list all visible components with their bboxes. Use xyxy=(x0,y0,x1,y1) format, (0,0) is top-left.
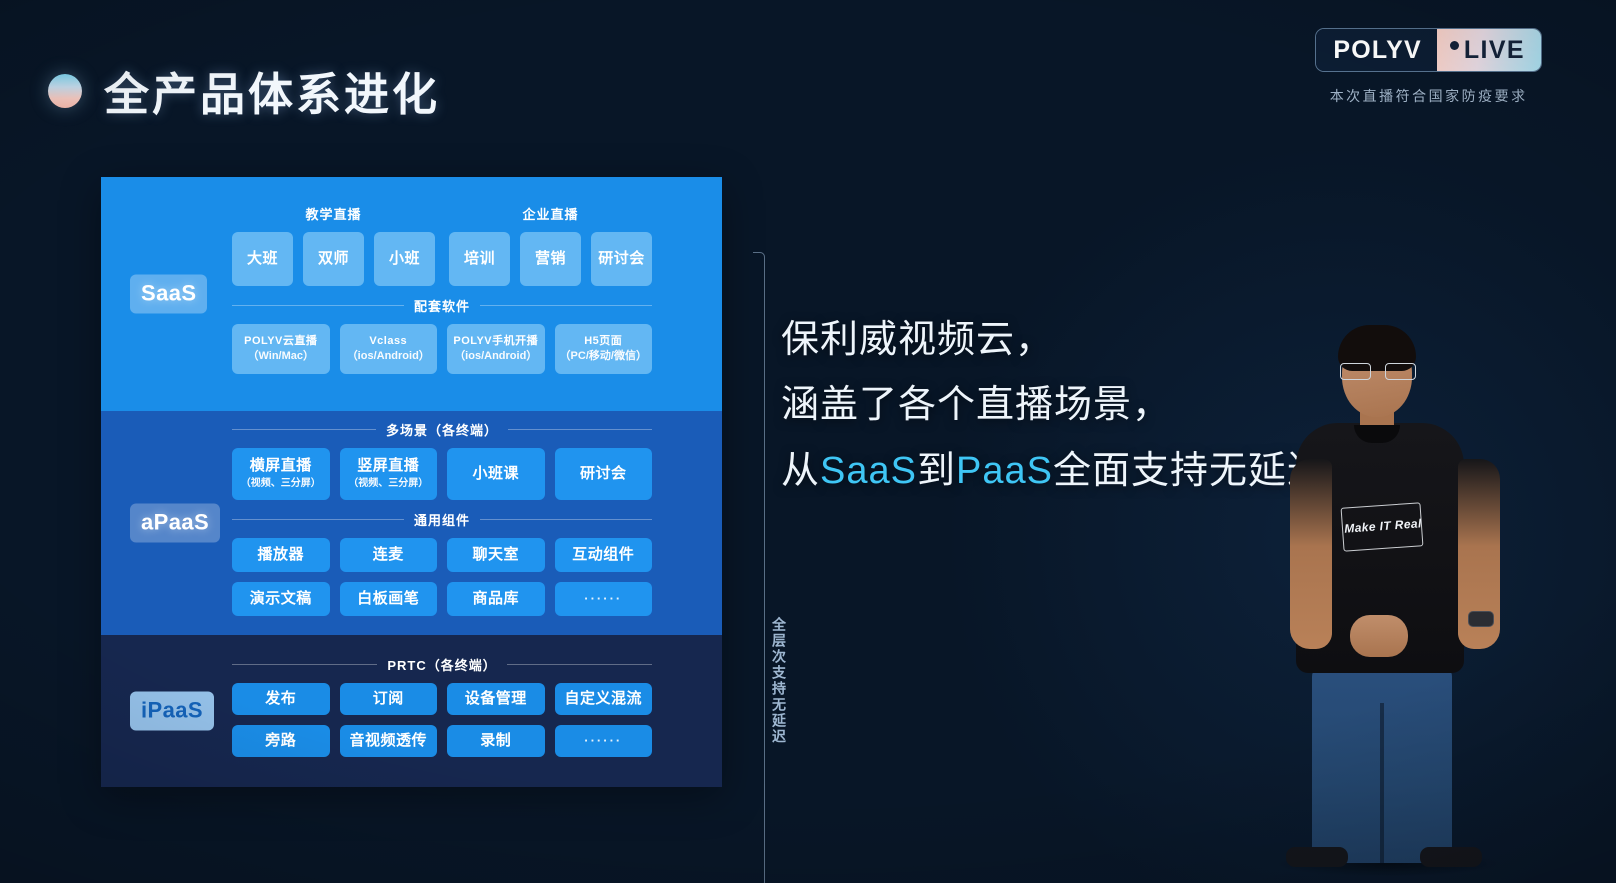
presenter-hands xyxy=(1350,615,1408,657)
tile-label: 订阅 xyxy=(373,690,404,709)
copy-highlight-paas: PaaS xyxy=(956,450,1053,492)
tile-label: 商品库 xyxy=(472,590,519,609)
tile-apaas-product-library[interactable]: 商品库 xyxy=(447,582,545,616)
tile-label: 横屏直播 xyxy=(250,457,312,476)
tile-label: ······ xyxy=(584,733,622,749)
presenter-leg-split xyxy=(1380,703,1384,863)
tile-saas-xiaoban[interactable]: 小班 xyxy=(374,232,435,286)
logo-product-part: LIVE xyxy=(1437,29,1541,71)
brand-logo: POLYV LIVE 本次直播符合国家防疫要求 xyxy=(1315,28,1542,106)
layer-tag-apaas: aPaaS xyxy=(130,504,220,543)
presenter-watch xyxy=(1468,611,1494,627)
tile-label: Vclass xyxy=(369,335,407,349)
layer-body-ipaas: PRTC（各终端） 发布 订阅 设备管理 自定义混流 xyxy=(232,655,652,767)
saas-scenario-row: 大班 双师 小班 培训 营销 xyxy=(232,232,652,286)
tile-sublabel: （PC/移动/微信） xyxy=(560,350,647,364)
rule-left xyxy=(232,664,377,665)
slide-title-row: 全产品体系进化 xyxy=(48,58,440,123)
ipaas-prtc-head: PRTC（各终端） xyxy=(232,655,652,674)
tile-label: 小班课 xyxy=(472,465,519,484)
tile-label: 双师 xyxy=(318,250,349,269)
tile-sublabel: （视频、三分屏） xyxy=(348,478,428,491)
presenter-shoe-left xyxy=(1286,847,1348,867)
rule-left xyxy=(232,519,404,520)
diagram-layer-apaas: aPaaS 多场景（各终端） 横屏直播 （视频、三分屏） 竖屏直播 （视频、三分… xyxy=(101,411,722,635)
tile-label: 营销 xyxy=(535,250,566,269)
copy-line-3-mid: 到 xyxy=(917,450,956,492)
tile-ipaas-subscribe[interactable]: 订阅 xyxy=(340,683,438,715)
tile-label: 连麦 xyxy=(373,546,404,565)
logo-caption: 本次直播符合国家防疫要求 xyxy=(1330,86,1528,106)
latency-bracket xyxy=(753,252,765,883)
latency-bracket-label: 全层次支持无延迟 xyxy=(769,617,789,745)
tile-label: POLYV手机开播 xyxy=(453,335,538,349)
tile-label: 研讨会 xyxy=(580,465,627,484)
tile-apaas-portrait-live[interactable]: 竖屏直播 （视频、三分屏） xyxy=(340,448,438,500)
layer-body-apaas: 多场景（各终端） 横屏直播 （视频、三分屏） 竖屏直播 （视频、三分屏） 小班课 xyxy=(232,420,652,626)
apaas-component-row-2: 演示文稿 白板画笔 商品库 ······ xyxy=(232,582,652,616)
tile-saas-yantaohui[interactable]: 研讨会 xyxy=(591,232,652,286)
tile-apaas-whiteboard[interactable]: 白板画笔 xyxy=(340,582,438,616)
logo-product-text: LIVE xyxy=(1464,36,1525,65)
copy-line-3-prefix: 从 xyxy=(781,450,820,492)
tile-ipaas-device-management[interactable]: 设备管理 xyxy=(447,683,545,715)
logo-box: POLYV LIVE xyxy=(1315,28,1542,72)
tile-sublabel: （Win/Mac） xyxy=(247,350,314,364)
rule-left xyxy=(232,429,376,430)
tile-ipaas-publish[interactable]: 发布 xyxy=(232,683,330,715)
saas-group-heads: 教学直播 企业直播 xyxy=(232,204,652,223)
apaas-scene-head: 多场景（各终端） xyxy=(232,420,652,439)
layer-body-saas: 教学直播 企业直播 大班 双师 小班 xyxy=(232,204,652,384)
layer-tag-saas: SaaS xyxy=(130,275,207,314)
product-architecture-diagram: SaaS 教学直播 企业直播 大班 双师 小班 xyxy=(101,177,722,787)
presenter-glasses-icon xyxy=(1340,363,1416,378)
page-title: 全产品体系进化 xyxy=(104,58,440,123)
tile-apaas-player[interactable]: 播放器 xyxy=(232,538,330,572)
diagram-layer-saas: SaaS 教学直播 企业直播 大班 双师 小班 xyxy=(101,177,722,411)
tile-apaas-chatroom[interactable]: 聊天室 xyxy=(447,538,545,572)
tile-label: ······ xyxy=(584,591,622,607)
slide-stage: 全产品体系进化 POLYV LIVE 本次直播符合国家防疫要求 SaaS 教学直… xyxy=(0,0,1616,883)
saas-enterprise-group: 培训 营销 研讨会 xyxy=(449,232,652,286)
group-caption: PRTC（各终端） xyxy=(387,655,496,674)
tile-saas-yingxiao[interactable]: 营销 xyxy=(520,232,581,286)
rule-right xyxy=(508,429,652,430)
tile-label: H5页面 xyxy=(584,335,622,349)
saas-teaching-group: 大班 双师 小班 xyxy=(232,232,435,286)
tile-saas-h5-page[interactable]: H5页面 （PC/移动/微信） xyxy=(555,324,653,374)
group-caption: 配套软件 xyxy=(414,296,470,315)
tile-label: 大班 xyxy=(247,250,278,269)
tile-ipaas-av-passthrough[interactable]: 音视频透传 xyxy=(340,725,438,757)
tile-sublabel: （ios/Android） xyxy=(454,350,537,364)
diagram-layer-ipaas: iPaaS PRTC（各终端） 发布 订阅 设备管理 xyxy=(101,635,722,787)
copy-highlight-saas: SaaS xyxy=(820,450,917,492)
rule-right xyxy=(480,519,652,520)
tile-label: 录制 xyxy=(480,732,511,751)
tile-saas-vclass[interactable]: Vclass （ios/Android） xyxy=(340,324,438,374)
rule-left xyxy=(232,305,404,306)
tile-label: 互动组件 xyxy=(572,546,634,565)
tile-apaas-seminar[interactable]: 研讨会 xyxy=(555,448,653,500)
tile-apaas-interactive-component[interactable]: 互动组件 xyxy=(555,538,653,572)
ipaas-row-1: 发布 订阅 设备管理 自定义混流 xyxy=(232,683,652,715)
live-dot-icon xyxy=(1450,41,1459,50)
group-caption: 通用组件 xyxy=(414,510,470,529)
rule-right xyxy=(507,664,652,665)
tile-label: 演示文稿 xyxy=(250,590,312,609)
saas-head-teaching: 教学直播 xyxy=(232,204,435,223)
tile-apaas-co-stream[interactable]: 连麦 xyxy=(340,538,438,572)
tile-label: 音视频透传 xyxy=(349,732,427,751)
tile-apaas-small-class[interactable]: 小班课 xyxy=(447,448,545,500)
tile-apaas-slides[interactable]: 演示文稿 xyxy=(232,582,330,616)
apaas-component-row-1: 播放器 连麦 聊天室 互动组件 xyxy=(232,538,652,572)
tile-apaas-landscape-live[interactable]: 横屏直播 （视频、三分屏） xyxy=(232,448,330,500)
tile-ipaas-bypass[interactable]: 旁路 xyxy=(232,725,330,757)
tile-label: 自定义混流 xyxy=(564,690,642,709)
presenter-arm-left xyxy=(1290,459,1332,649)
saas-head-enterprise: 企业直播 xyxy=(449,204,652,223)
ipaas-row-2: 旁路 音视频透传 录制 ······ xyxy=(232,725,652,757)
tile-label: 培训 xyxy=(464,250,495,269)
saas-software-row: POLYV云直播 （Win/Mac） Vclass （ios/Android） … xyxy=(232,324,652,374)
apaas-component-head: 通用组件 xyxy=(232,510,652,529)
layer-tag-ipaas: iPaaS xyxy=(130,692,214,731)
tile-saas-polyv-cloud-live[interactable]: POLYV云直播 （Win/Mac） xyxy=(232,324,330,374)
tile-label: 聊天室 xyxy=(472,546,519,565)
tile-ipaas-more[interactable]: ······ xyxy=(555,725,653,757)
tile-label: POLYV云直播 xyxy=(244,335,317,349)
tile-saas-daban[interactable]: 大班 xyxy=(232,232,293,286)
tile-ipaas-recording[interactable]: 录制 xyxy=(447,725,545,757)
tile-label: 研讨会 xyxy=(598,250,645,269)
tile-sublabel: （视频、三分屏） xyxy=(241,478,321,491)
logo-brand-text: POLYV xyxy=(1333,36,1421,65)
logo-brand-part: POLYV xyxy=(1316,29,1436,71)
tile-label: 白板画笔 xyxy=(357,590,419,609)
tile-label: 设备管理 xyxy=(465,690,527,709)
tile-saas-polyv-mobile-live[interactable]: POLYV手机开播 （ios/Android） xyxy=(447,324,545,374)
tile-apaas-more[interactable]: ······ xyxy=(555,582,653,616)
saas-software-head: 配套软件 xyxy=(232,296,652,315)
tile-label: 播放器 xyxy=(257,546,304,565)
group-caption: 多场景（各终端） xyxy=(386,420,498,439)
tile-saas-shuangshi[interactable]: 双师 xyxy=(303,232,364,286)
tile-label: 小班 xyxy=(389,250,420,269)
presenter-shoe-right xyxy=(1420,847,1482,867)
tile-label: 竖屏直播 xyxy=(357,457,419,476)
tile-ipaas-custom-mixing[interactable]: 自定义混流 xyxy=(555,683,653,715)
tile-sublabel: （ios/Android） xyxy=(347,350,430,364)
tile-label: 发布 xyxy=(265,690,296,709)
rule-right xyxy=(480,305,652,306)
tile-label: 旁路 xyxy=(265,732,296,751)
presenter-figure: Make IT Real xyxy=(1268,323,1518,883)
tile-saas-peixun[interactable]: 培训 xyxy=(449,232,510,286)
apaas-scene-row: 横屏直播 （视频、三分屏） 竖屏直播 （视频、三分屏） 小班课 研讨会 xyxy=(232,448,652,500)
gradient-circle-bullet-icon xyxy=(48,74,82,108)
